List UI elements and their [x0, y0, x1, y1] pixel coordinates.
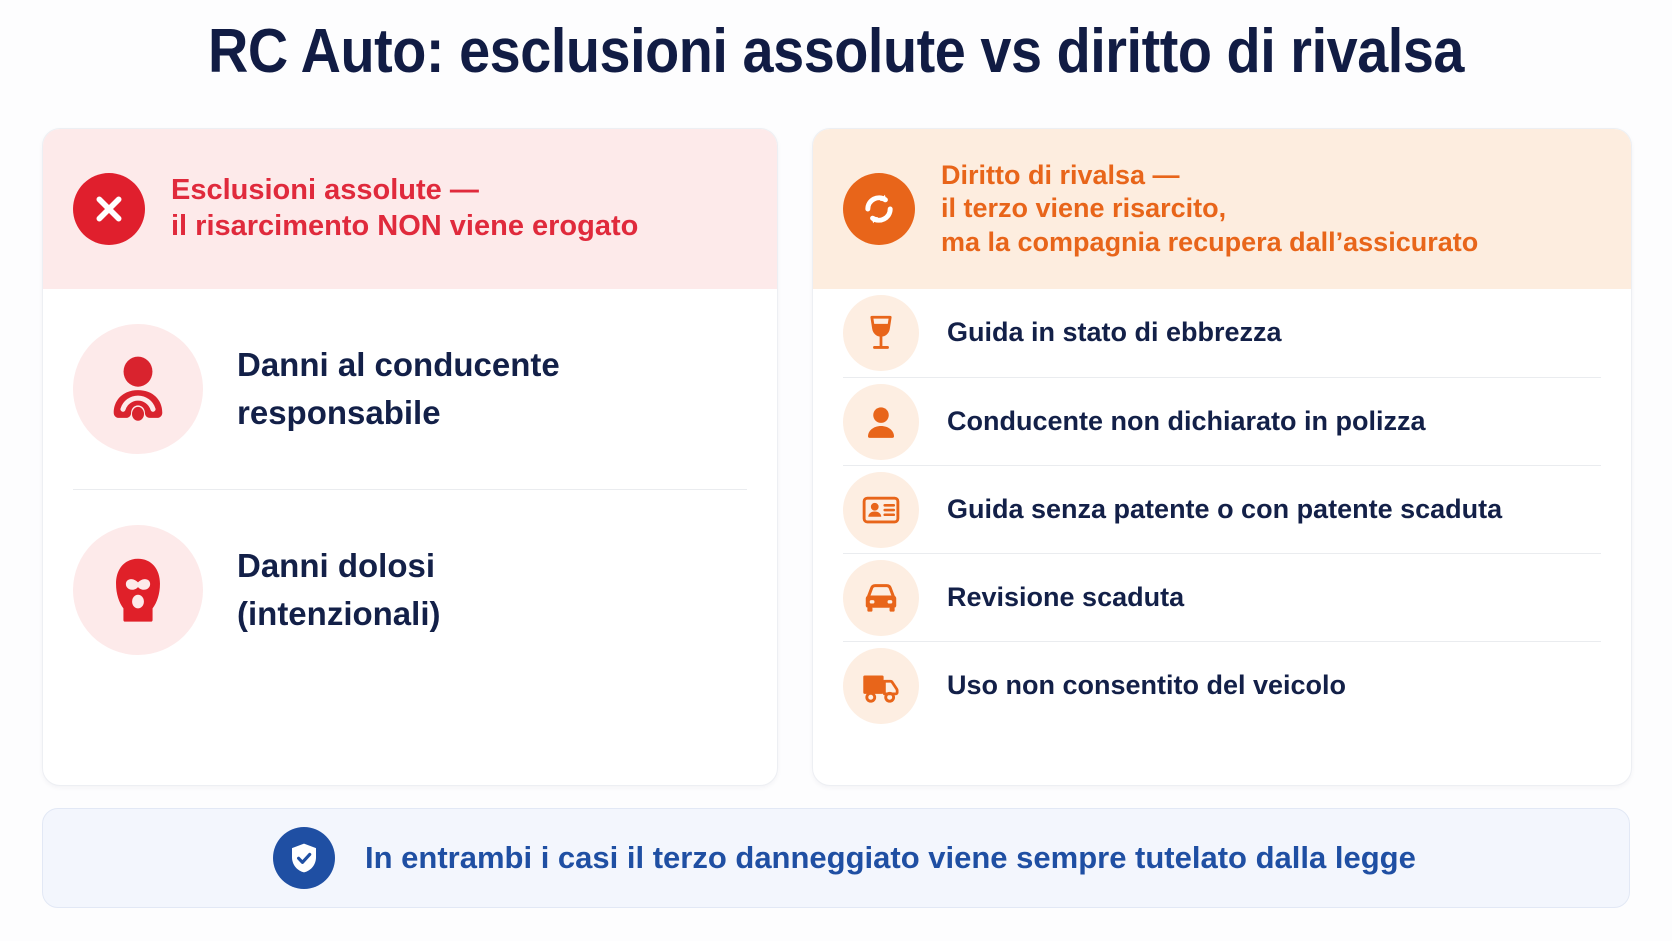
infographic-root: RC Auto: esclusioni assolute vs diritto … — [0, 0, 1672, 941]
list-item-label: Danni dolosi (intenzionali) — [237, 542, 440, 638]
list-item-label-line-1: Danni dolosi — [237, 542, 440, 590]
right-card-header: Diritto di rivalsa — il terzo viene risa… — [813, 129, 1631, 289]
footer-banner: In entrambi i casi il terzo danneggiato … — [42, 808, 1630, 908]
left-header-line-2: il risarcimento NON viene erogato — [171, 209, 638, 245]
list-item-label-line-2: responsabile — [237, 389, 560, 437]
car-front-icon — [843, 560, 919, 636]
list-item: Guida senza patente o con patente scadut… — [843, 465, 1601, 553]
list-item: Guida in stato di ebbrezza — [843, 289, 1601, 377]
right-card-header-text: Diritto di rivalsa — il terzo viene risa… — [941, 159, 1478, 259]
left-card-list: Danni al conducente responsabile Danni d… — [43, 289, 777, 689]
id-card-icon — [843, 472, 919, 548]
x-circle-icon — [73, 173, 145, 245]
card-esclusioni-assolute: Esclusioni assolute — il risarcimento NO… — [42, 128, 778, 786]
right-header-line-2: il terzo viene risarcito, — [941, 192, 1478, 225]
page-title: RC Auto: esclusioni assolute vs diritto … — [84, 16, 1589, 87]
left-card-header: Esclusioni assolute — il risarcimento NO… — [43, 129, 777, 289]
right-header-line-3: ma la compagnia recupera dall’assicurato — [941, 226, 1478, 259]
list-item: Revisione scaduta — [843, 553, 1601, 641]
left-card-header-text: Esclusioni assolute — il risarcimento NO… — [171, 173, 638, 245]
right-header-line-1: Diritto di rivalsa — — [941, 159, 1478, 192]
list-item: Danni al conducente responsabile — [73, 289, 747, 489]
left-header-line-1: Esclusioni assolute — — [171, 173, 638, 209]
shield-check-icon — [273, 827, 335, 889]
list-item: Uso non consentito del veicolo — [843, 641, 1601, 729]
list-item-label: Guida in stato di ebbrezza — [947, 315, 1282, 350]
wine-glass-icon — [843, 295, 919, 371]
footer-banner-text: In entrambi i casi il terzo danneggiato … — [365, 840, 1416, 876]
list-item-label: Revisione scaduta — [947, 580, 1184, 615]
person-icon — [843, 384, 919, 460]
list-item: Conducente non dichiarato in polizza — [843, 377, 1601, 465]
balaclava-mask-icon — [73, 525, 203, 655]
refresh-circle-icon — [843, 173, 915, 245]
list-item: Danni dolosi (intenzionali) — [73, 489, 747, 689]
list-item-label: Uso non consentito del veicolo — [947, 668, 1346, 703]
list-item-label: Danni al conducente responsabile — [237, 341, 560, 437]
list-item-label: Conducente non dichiarato in polizza — [947, 404, 1426, 439]
delivery-truck-icon — [843, 648, 919, 724]
right-card-list: Guida in stato di ebbrezza Conducente no… — [813, 289, 1631, 729]
list-item-label: Guida senza patente o con patente scadut… — [947, 492, 1502, 527]
list-item-label-line-2: (intenzionali) — [237, 590, 440, 638]
driver-steering-wheel-icon — [73, 324, 203, 454]
list-item-label-line-1: Danni al conducente — [237, 341, 560, 389]
card-diritto-di-rivalsa: Diritto di rivalsa — il terzo viene risa… — [812, 128, 1632, 786]
